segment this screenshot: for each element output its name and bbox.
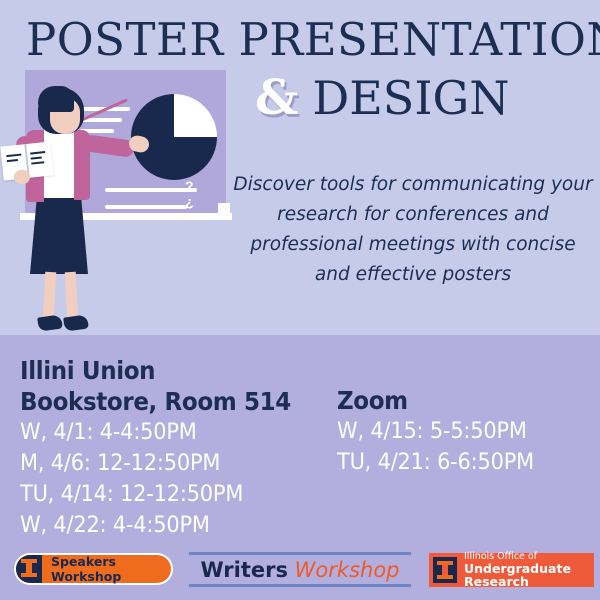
session-column-zoom: Zoom W, 4/15: 5-5:50PM TU, 4/21: 6-6:50P… <box>337 385 592 478</box>
session-time: W, 4/22: 4-4:50PM <box>20 510 315 541</box>
logo-speakers-workshop[interactable]: Speakers Workshop <box>16 555 171 583</box>
ampersand-glyph: & <box>255 70 298 126</box>
logo-undergraduate-research[interactable]: Illinois Office of Undergraduate Researc… <box>429 553 594 587</box>
poster-title-line1: POSTER PRESENTATION <box>26 16 586 64</box>
decorative-notch <box>218 203 230 213</box>
presenter-leg <box>43 272 56 321</box>
poster-canvas: POSTER PRESENTATION &DESIGN ? ? <box>0 0 600 600</box>
logo-workshop-word: Workshop <box>295 558 400 582</box>
presenter-illustration: ? ? <box>0 60 232 338</box>
board-text-line <box>105 205 187 209</box>
logo-writers-word: Writers <box>200 558 288 582</box>
session-time: TU, 4/21: 6-6:50PM <box>337 447 579 478</box>
presenter-shoe <box>63 314 89 331</box>
presenter-hair-front <box>38 86 74 112</box>
logo-our-line2: Undergraduate Research <box>464 562 590 588</box>
location-title-line1: Illini Union <box>20 355 305 386</box>
location-title-zoom: Zoom <box>337 385 572 416</box>
question-mark-icon: ? <box>185 178 194 194</box>
location-title-line2: Bookstore, Room 514 <box>20 386 305 417</box>
session-time: M, 4/6: 12-12:50PM <box>20 448 315 479</box>
presenter-shoe <box>37 314 63 331</box>
presenter-skirt <box>30 196 88 274</box>
presenter-leg <box>65 272 78 321</box>
session-time: W, 4/1: 4-4:50PM <box>20 417 315 448</box>
logo-writers-workshop[interactable]: Writers Workshop <box>189 552 411 590</box>
board-text-line <box>105 188 197 192</box>
logo-our-text: Illinois Office of Undergraduate Researc… <box>457 552 590 588</box>
session-column-illini-union: Illini Union Bookstore, Room 514 W, 4/1:… <box>20 355 330 541</box>
logo-speakers-workshop-label: Speakers Workshop <box>42 554 171 584</box>
logo-writers-workshop-label: Writers Workshop <box>189 555 411 584</box>
poster-description: Discover tools for communicating your re… <box>232 170 594 290</box>
illinois-block-i-icon <box>16 555 42 583</box>
logo-rule-bottom <box>189 584 411 587</box>
presenter-hand-left <box>14 170 30 184</box>
poster-title-line2-row: &DESIGN <box>255 72 600 124</box>
illinois-block-i-icon <box>433 557 457 583</box>
session-time: W, 4/15: 5-5:50PM <box>337 416 579 447</box>
poster-title-line2: DESIGN <box>312 71 509 125</box>
session-time: TU, 4/14: 12-12:50PM <box>20 479 315 510</box>
question-mark-icon: ? <box>185 196 194 212</box>
